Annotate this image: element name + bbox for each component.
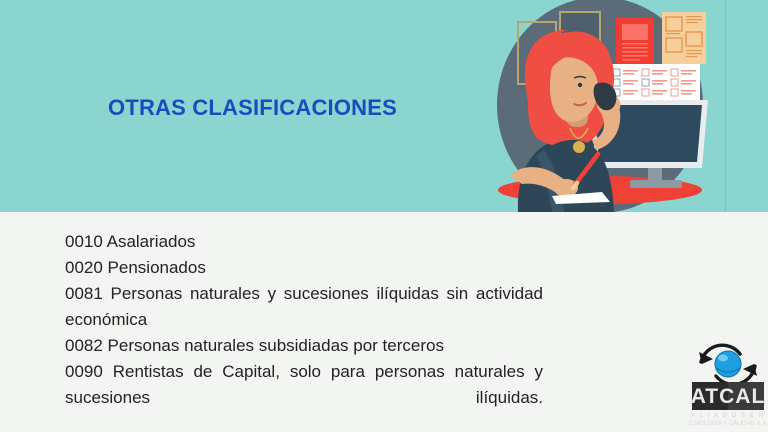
list-item: 0090 Rentistas de Capital, solo para per…: [65, 359, 543, 411]
logo-tagline-2: TECNOLOGÍA Y CALIDAD S.A.S.: [688, 420, 768, 427]
logo-tagline-1: A L I A D O S E N: [691, 413, 765, 419]
woman-on-phone-at-desk-illustration: [470, 0, 730, 212]
logo-brand-text: ATCAL: [691, 385, 766, 408]
atcal-logo: ATCAL A L I A D O S E N TECNOLOGÍA Y CAL…: [688, 332, 768, 428]
list-item: 0020 Pensionados: [65, 255, 543, 281]
list-item: 0082 Personas naturales subsidiadas por …: [65, 333, 543, 359]
slide: OTRAS CLASIFICACIONES 0010 Asalariados 0…: [0, 0, 768, 432]
page-title: OTRAS CLASIFICACIONES: [108, 95, 397, 121]
list-item: 0081 Personas naturales y sucesiones ilí…: [65, 281, 543, 333]
classification-list: 0010 Asalariados 0020 Pensionados 0081 P…: [65, 229, 543, 411]
list-item: 0010 Asalariados: [65, 229, 543, 255]
